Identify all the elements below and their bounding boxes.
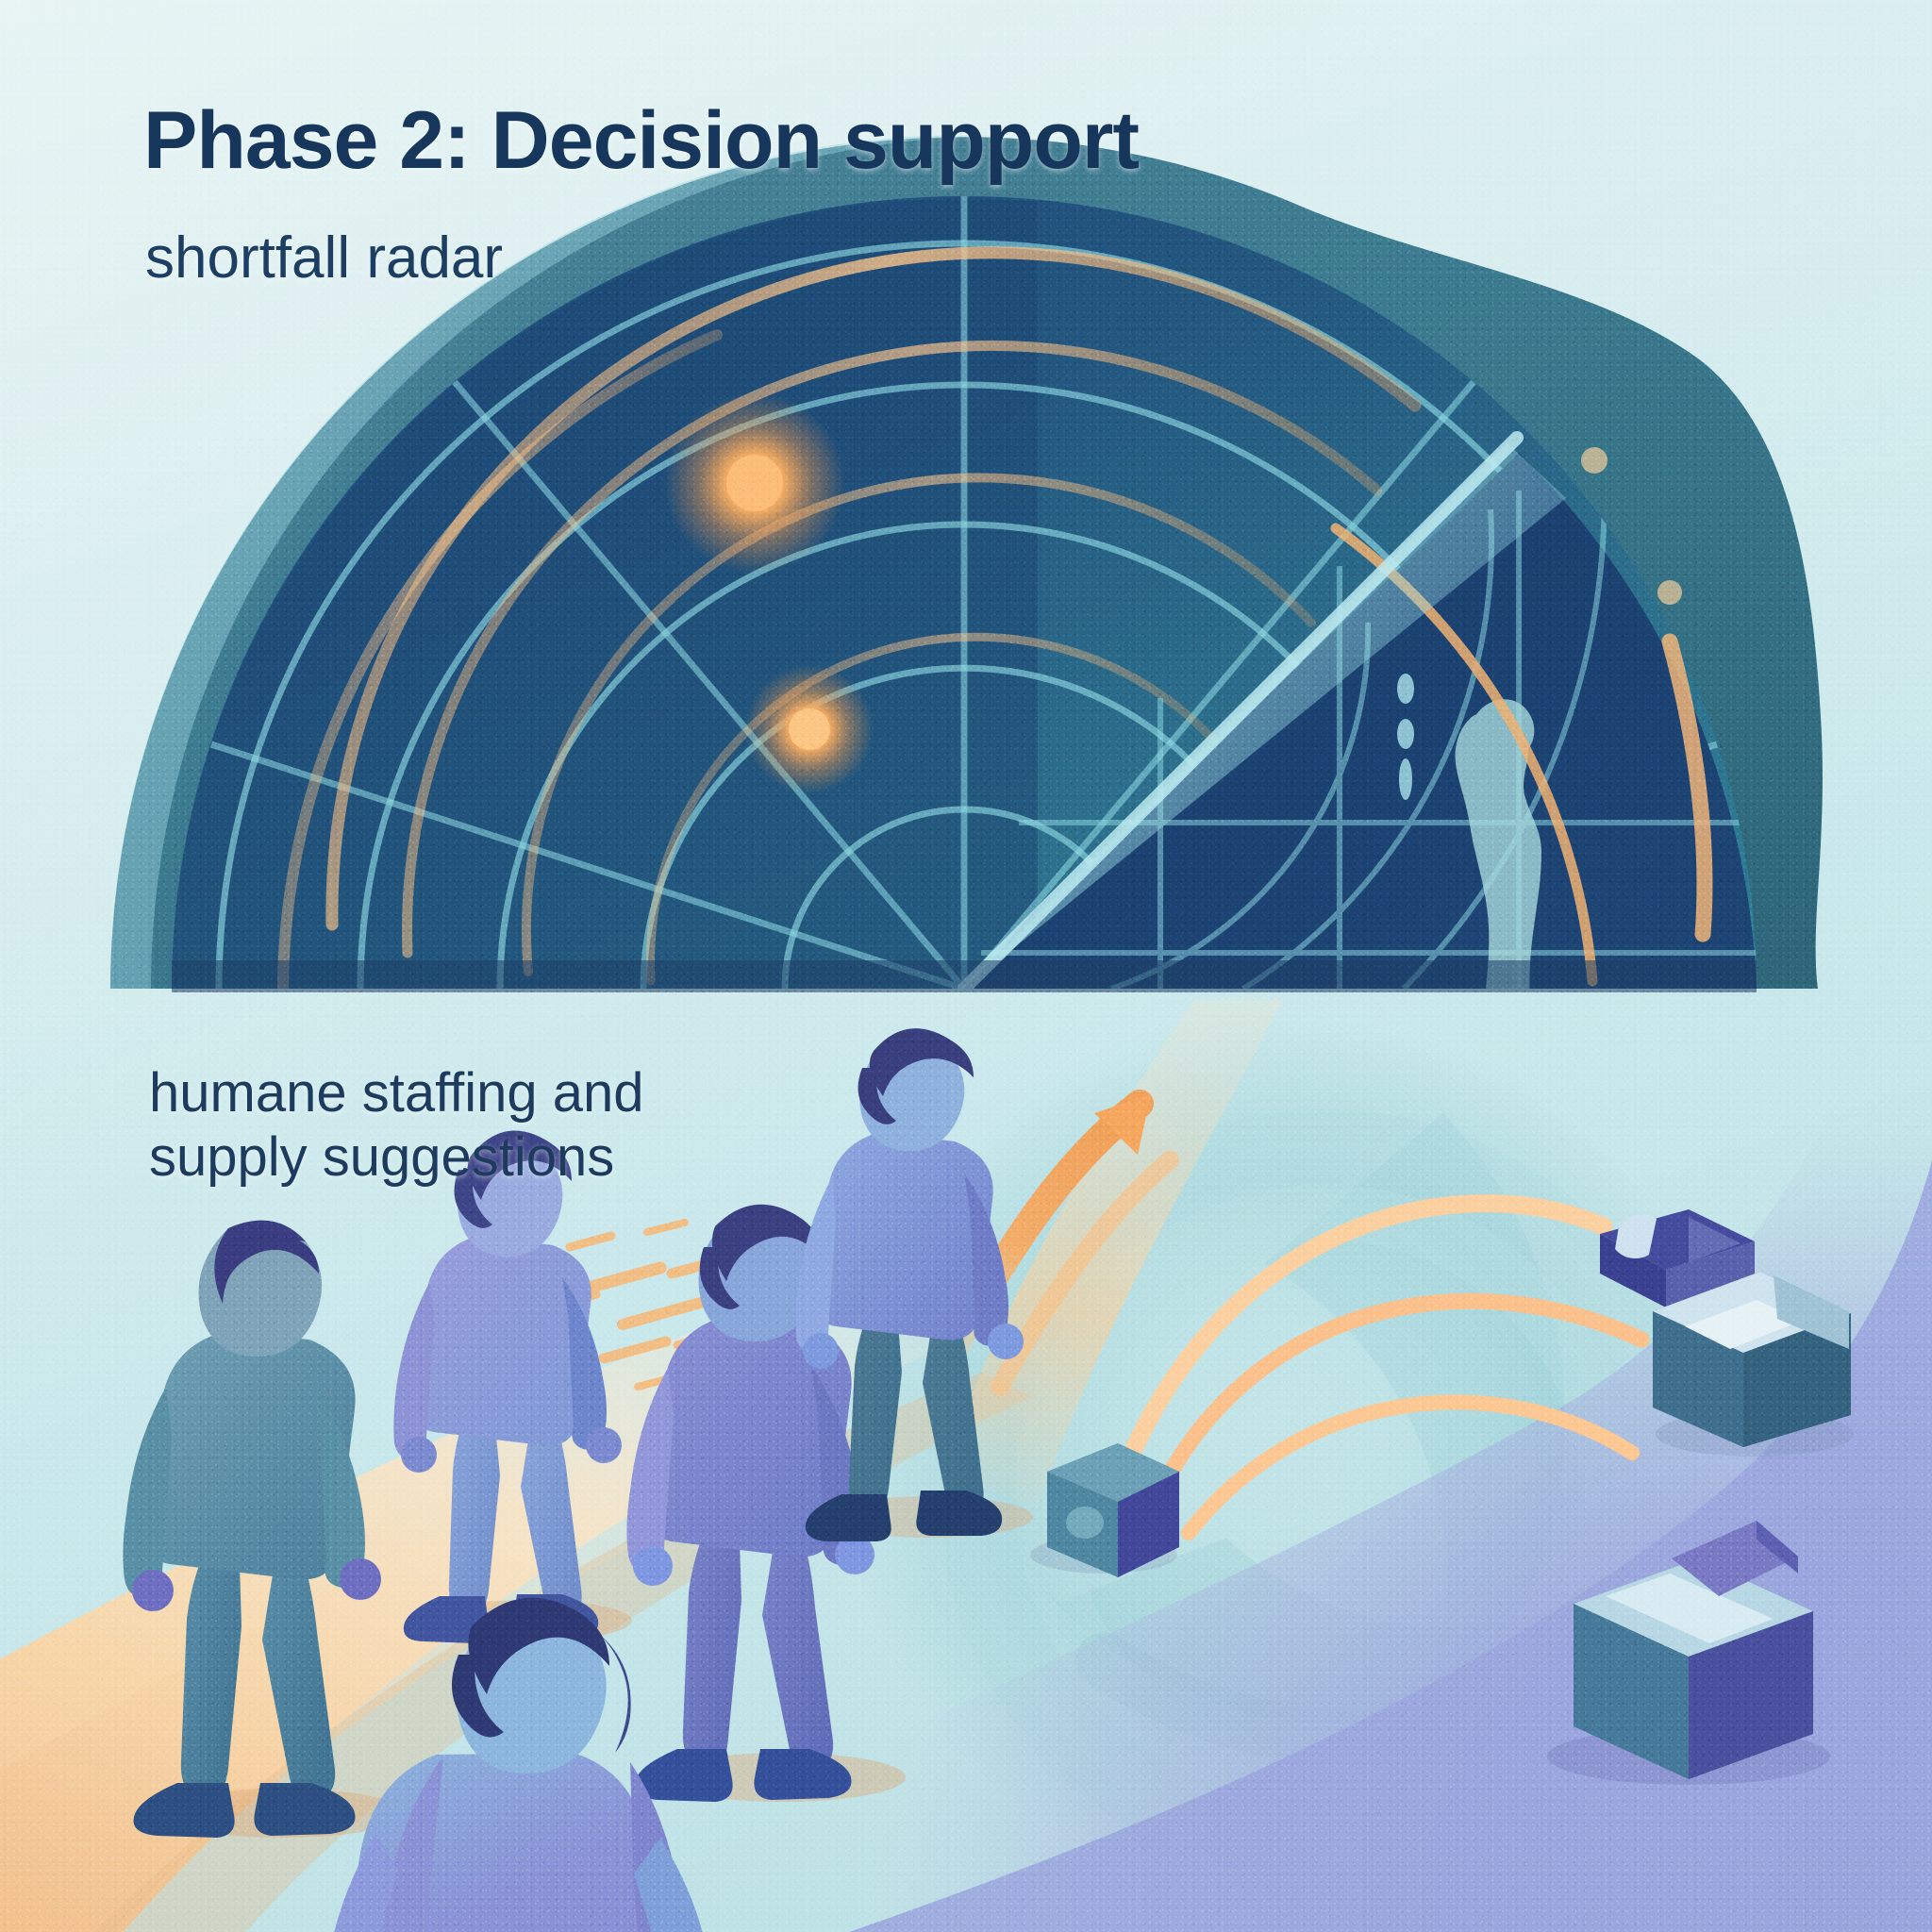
- caption-line-2: supply suggestions: [149, 1125, 644, 1190]
- caption-line-1: humane staffing and: [149, 1061, 644, 1125]
- walking-person-mid-back: [393, 1131, 632, 1643]
- scene-caption: humane staffing and supply suggestions: [149, 1061, 644, 1191]
- illustration-canvas: Phase 2: Decision support shortfall rada…: [0, 0, 1932, 1932]
- walking-person-left: [123, 1221, 406, 1838]
- page-subtitle: shortfall radar: [145, 225, 503, 291]
- page-title: Phase 2: Decision support: [143, 94, 1139, 188]
